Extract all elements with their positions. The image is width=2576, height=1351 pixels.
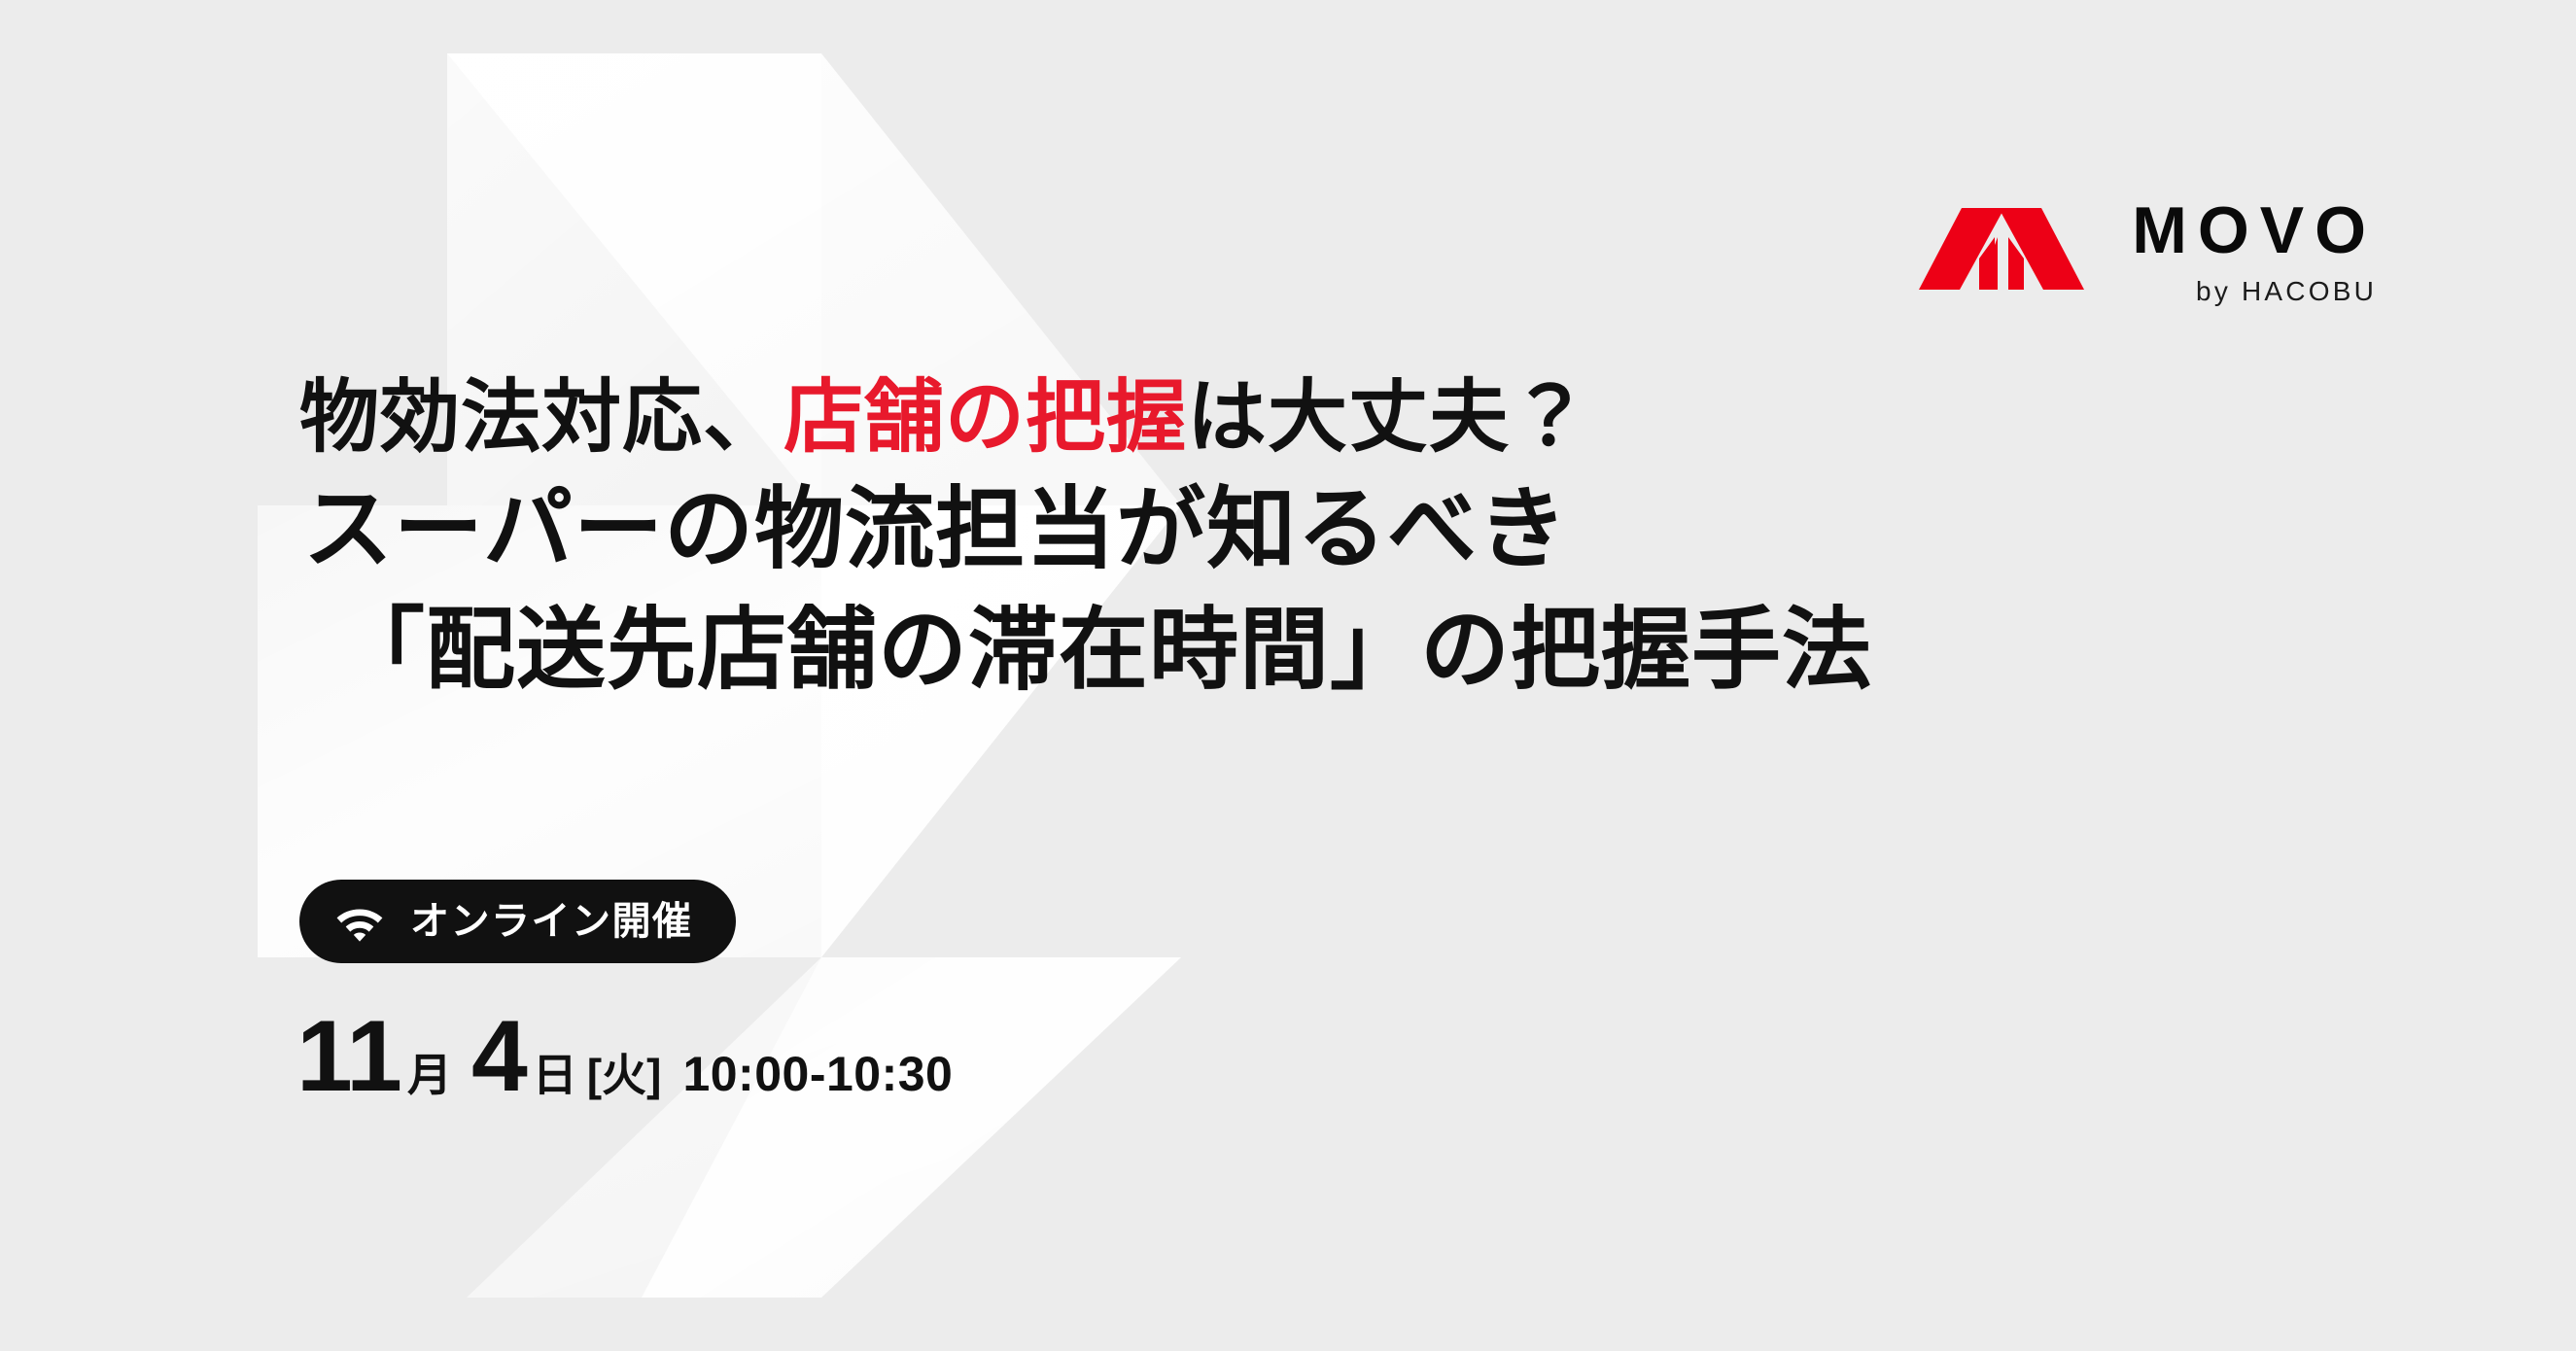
movo-wordmark: MOVO by HACOBU [2121,199,2377,307]
webinar-banner: MOVO by HACOBU 物効法対応、店舗の把握は大丈夫？ スーパーの物流担… [0,0,2576,1351]
movo-logo: MOVO by HACOBU [1919,199,2377,307]
headline-block: 物効法対応、店舗の把握は大丈夫？ スーパーの物流担当が知るべき 「配送先店舗の滞… [0,369,2576,709]
event-time-range: 10:00-10:30 [682,1050,953,1098]
event-date-line: 11 月 4 日 [火] 10:00-10:30 [296,1006,953,1107]
headline-line-2: スーパーの物流担当が知るべき [303,472,2576,589]
movo-road-mark-icon [1919,208,2084,290]
online-event-badge-label: オンライン開催 [410,902,693,941]
headline-line-1-after: は大丈夫？ [1187,373,1590,462]
logo-tagline-text: by HACOBU [2193,276,2377,307]
logo-movo-text: MOVO [2121,199,2377,262]
event-month-number: 11 [296,1006,401,1107]
event-day-number: 4 [471,1006,527,1107]
event-day-of-week: [火] [587,1053,662,1097]
event-day-unit: 日 [533,1053,577,1097]
headline-line-1-accent: 店舗の把握 [783,373,1187,462]
online-event-badge: オンライン開催 [299,880,736,963]
wifi-icon [334,900,385,943]
headline-line-1: 物効法対応、店舗の把握は大丈夫？ [299,369,2576,467]
headline-line-3: 「配送先店舗の滞在時間」の把握手法 [335,593,2576,710]
headline-line-1-before: 物効法対応、 [299,373,783,462]
event-month-unit: 月 [407,1053,452,1097]
